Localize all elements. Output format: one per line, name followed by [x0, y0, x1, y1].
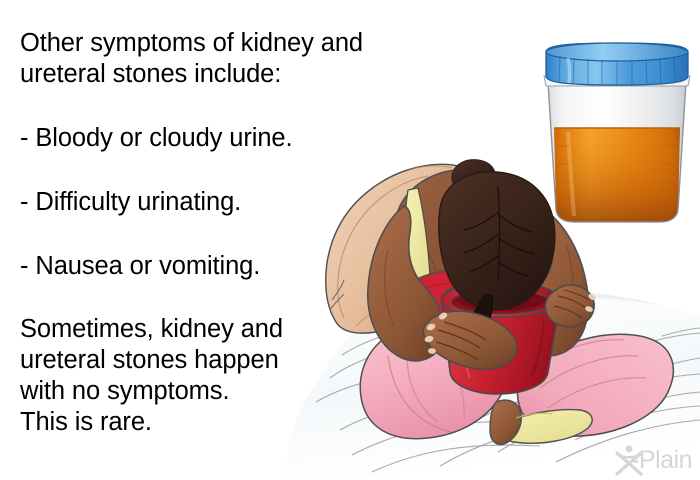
urine-specimen-cup [538, 40, 696, 225]
symptom-bullet-1: - Bloody or cloudy urine. [20, 123, 420, 154]
outro-paragraph: Sometimes, kidney and ureteral stones ha… [20, 314, 420, 438]
text-content: Other symptoms of kidney and ureteral st… [20, 28, 420, 438]
intro-paragraph: Other symptoms of kidney and ureteral st… [20, 28, 420, 90]
symptom-bullet-3: - Nausea or vomiting. [20, 251, 420, 282]
slide-canvas: Other symptoms of kidney and ureteral st… [0, 0, 700, 480]
symptom-bullet-2: - Difficulty urinating. [20, 187, 420, 218]
xplain-logo-text: -Plain [631, 446, 692, 475]
xplain-logo: -Plain [614, 444, 692, 476]
